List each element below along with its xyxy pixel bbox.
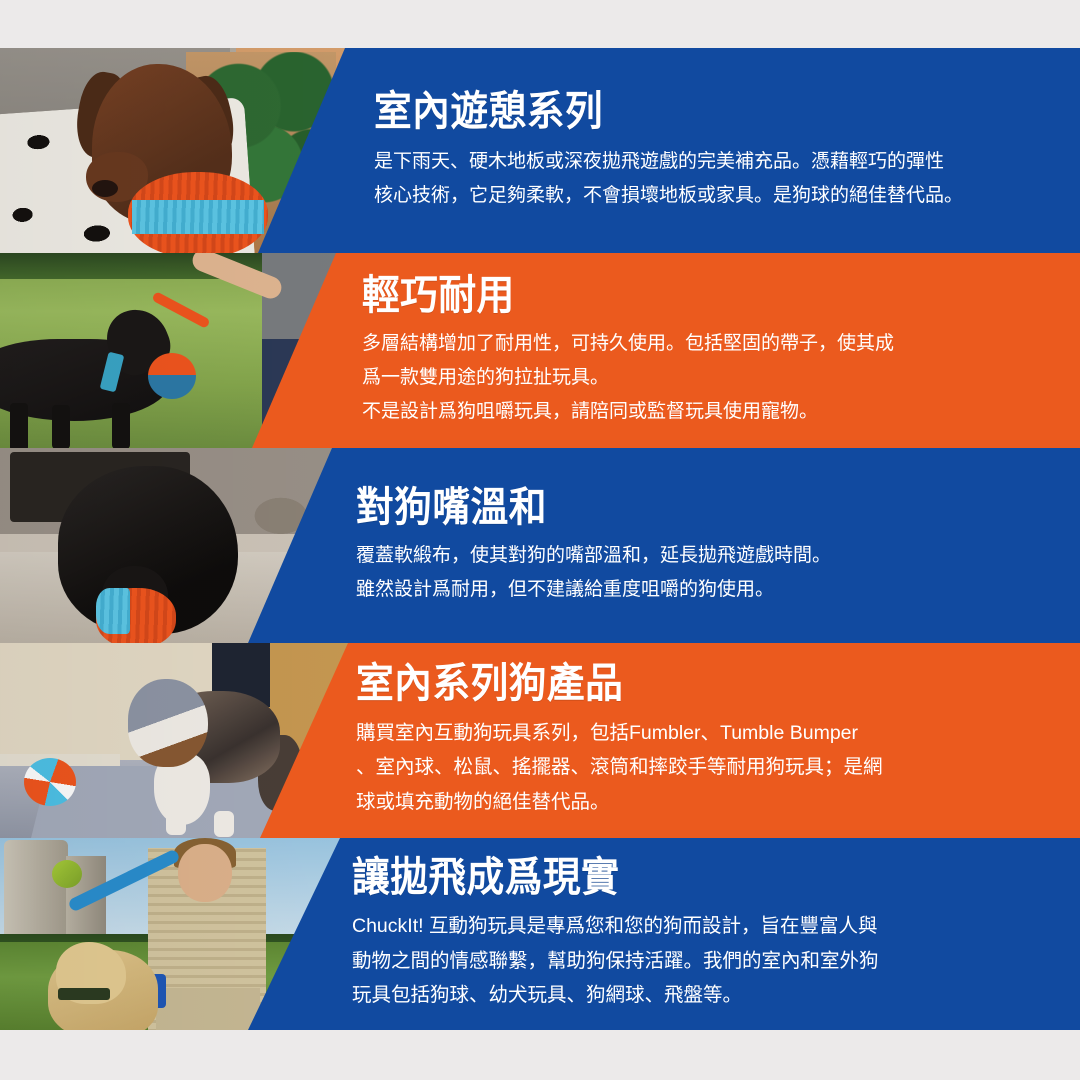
section-heading-4: 室內系列狗產品 xyxy=(356,661,1009,705)
body-line: 動物之間的情感聯繫，幫助狗保持活躍。我們的室內和室外狗 xyxy=(352,944,1066,979)
section-make-fetch-reality: 讓拋飛成爲現實 ChuckIt! 互動狗玩具是專爲您和您的狗而設計，旨在豐富人與… xyxy=(0,838,1080,1030)
section-heading-1: 室內遊憩系列 xyxy=(374,89,1011,133)
body-line: 購買室內互動狗玩具系列，包括Fumbler、Tumble Bumper xyxy=(356,716,1066,751)
body-line: 核心技術，它足夠柔軟，不會損壞地板或家具。是狗球的絕佳替代品。 xyxy=(374,179,1066,213)
section-body-1: 是下雨天、硬木地板或深夜拋飛遊戲的完美補充品。憑藉輕巧的彈性 核心技術，它足夠柔… xyxy=(374,145,1066,213)
body-line: 是下雨天、硬木地板或深夜拋飛遊戲的完美補充品。憑藉輕巧的彈性 xyxy=(374,145,1066,179)
section-indoor-series-products: 室內系列狗產品 購買室內互動狗玩具系列，包括Fumbler、Tumble Bum… xyxy=(0,643,1080,838)
body-line: 不是設計爲狗咀嚼玩具，請陪同或監督玩具使用寵物。 xyxy=(362,395,1066,429)
section-heading-5: 讓拋飛成爲現實 xyxy=(352,855,1009,899)
section-body-4: 購買室內互動狗玩具系列，包括Fumbler、Tumble Bumper 、室內球… xyxy=(356,716,1066,820)
section-gentle-on-mouth: 對狗嘴溫和 覆蓋軟緞布，使其對狗的嘴部溫和，延長拋飛遊戲時間。 雖然設計爲耐用，… xyxy=(0,448,1080,643)
section-body-2: 多層結構增加了耐用性，可持久使用。包括堅固的帶子，使其成 爲一款雙用途的狗拉扯玩… xyxy=(362,327,1066,428)
body-line: 覆蓋軟緞布，使其對狗的嘴部溫和，延長拋飛遊戲時間。 xyxy=(356,539,1066,573)
body-line: 爲一款雙用途的狗拉扯玩具。 xyxy=(362,361,1066,395)
section-body-5: ChuckIt! 互動狗玩具是專爲您和您的狗而設計，旨在豐富人與 動物之間的情感… xyxy=(352,909,1066,1013)
body-line: 多層結構增加了耐用性，可持久使用。包括堅固的帶子，使其成 xyxy=(362,327,1066,361)
section-indoor-play-series: 室內遊憩系列 是下雨天、硬木地板或深夜拋飛遊戲的完美補充品。憑藉輕巧的彈性 核心… xyxy=(0,48,1080,253)
body-line: 、室內球、松鼠、搖擺器、滾筒和摔跤手等耐用狗玩具；是網 xyxy=(356,750,1066,785)
body-line: 玩具包括狗球、幼犬玩具、狗網球、飛盤等。 xyxy=(352,978,1066,1013)
section-heading-2: 輕巧耐用 xyxy=(362,273,1010,317)
section-body-3: 覆蓋軟緞布，使其對狗的嘴部溫和，延長拋飛遊戲時間。 雖然設計爲耐用，但不建議給重… xyxy=(356,539,1066,607)
body-line: 球或填充動物的絕佳替代品。 xyxy=(356,785,1066,820)
section-lightweight-durable: 輕巧耐用 多層結構增加了耐用性，可持久使用。包括堅固的帶子，使其成 爲一款雙用途… xyxy=(0,253,1080,448)
section-heading-3: 對狗嘴溫和 xyxy=(356,485,1009,529)
infographic-page: 室內遊憩系列 是下雨天、硬木地板或深夜拋飛遊戲的完美補充品。憑藉輕巧的彈性 核心… xyxy=(0,0,1080,1080)
body-line: ChuckIt! 互動狗玩具是專爲您和您的狗而設計，旨在豐富人與 xyxy=(352,909,1066,944)
body-line: 雖然設計爲耐用，但不建議給重度咀嚼的狗使用。 xyxy=(356,573,1066,607)
